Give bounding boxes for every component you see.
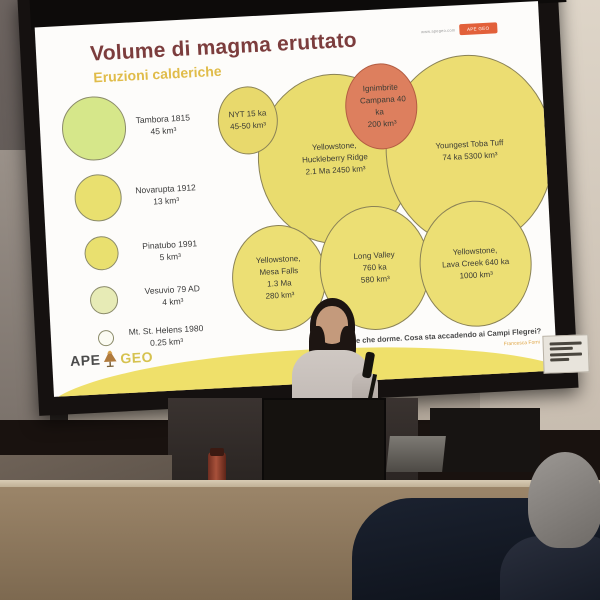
legend-volume-pinatubo: 5 km³ xyxy=(143,250,198,265)
slide-title: Volume di magma eruttato xyxy=(90,29,358,67)
wall-notice-sign xyxy=(542,334,589,374)
slide-head-note: www.apegeo.com xyxy=(421,27,456,34)
legend-label-novarupta: Novarupta 1912 13 km³ xyxy=(135,181,197,209)
apegeo-logo: APE GEO xyxy=(70,348,154,370)
bubble-label-toba-tuff: Youngest Toba Tuff 74 ka 5300 km³ xyxy=(427,137,512,165)
slide-subtitle: Eruzioni calderiche xyxy=(93,63,222,86)
bubble-label-long-valley: Long Valley 760 ka 580 km³ xyxy=(345,249,404,288)
logo-text-ape: APE xyxy=(70,351,101,369)
bubble-label-huckleberry-ridge: Yellowstone, Huckleberry Ridge 2.1 Ma 24… xyxy=(293,139,377,179)
slide-badge: APE GEO xyxy=(459,22,498,35)
podium-side-panel xyxy=(430,408,540,472)
slide-author: Francesca Forni xyxy=(504,339,540,347)
legend-label-vesuvio: Vesuvio 79 AD 4 km³ xyxy=(144,282,201,309)
legend-bubble-vesuvio xyxy=(89,285,118,314)
legend-bubble-novarupta xyxy=(73,173,122,222)
water-bottle-cap xyxy=(210,448,224,456)
laptop xyxy=(386,436,446,472)
podium-monitor xyxy=(262,398,386,484)
logo-text-geo: GEO xyxy=(120,349,153,367)
legend-volume-tambora: 45 km³ xyxy=(136,124,191,139)
legend-bubble-tambora xyxy=(60,95,127,162)
lecture-hall-scene: www.apegeo.com APE GEO Volume di magma e… xyxy=(0,0,600,600)
bubble-label-lava-creek: Yellowstone, Lava Creek 640 ka 1000 km³ xyxy=(433,244,518,284)
bubble-label-nyt: NYT 15 ka 45-50 km³ xyxy=(220,107,275,134)
legend-label-pinatubo: Pinatubo 1991 5 km³ xyxy=(142,237,198,264)
bubble-label-ignimbrite-campana: Ignimbrite Campana 40 ka 200 km³ xyxy=(345,81,417,133)
bubble-label-mesa-falls: Yellowstone, Mesa Falls 1.3 Ma 280 km³ xyxy=(248,252,311,303)
legend-label-sthelens: Mt. St. Helens 1980 0.25 km³ xyxy=(128,322,204,350)
audience-head xyxy=(528,452,600,548)
legend-label-tambora: Tambora 1815 45 km³ xyxy=(135,111,191,138)
legend-volume-vesuvio: 4 km³ xyxy=(145,294,201,309)
presentation-slide: www.apegeo.com APE GEO Volume di magma e… xyxy=(35,1,558,397)
legend-bubble-pinatubo xyxy=(84,235,120,271)
legend-bubble-sthelens xyxy=(98,330,115,347)
volcano-icon xyxy=(101,349,120,368)
